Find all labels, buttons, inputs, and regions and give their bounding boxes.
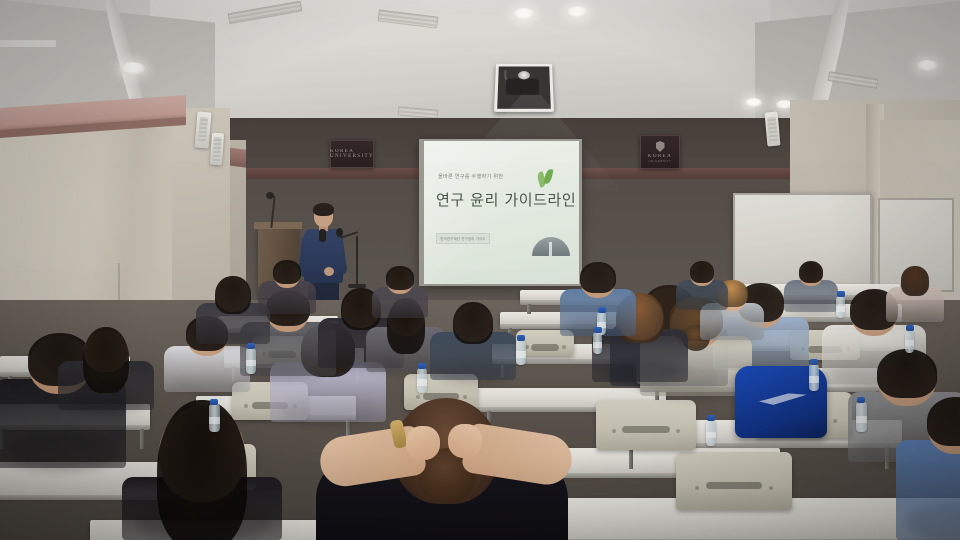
chair-handle-slot [531,344,559,351]
attendee-hair [386,266,413,290]
attendee-far-row-e [886,268,944,322]
attendee-hair [83,327,129,392]
attendee-hair [799,261,824,283]
wall-banner-left-text: KOREA UNIVERSITY [330,149,374,159]
attendee-hair [877,349,937,399]
slide-tag-box: 한국연구재단 연구윤리 가이드 [436,233,490,244]
bottle-cap [598,307,606,313]
attendee-hair [927,397,960,447]
chair-rivet [562,345,566,349]
water-bottle [209,404,220,432]
attendee-hair [580,262,615,293]
bottle-label [905,340,914,346]
attendee-hair [690,261,715,283]
recessed-ceiling-downlight [120,62,145,75]
bottle-cap [810,359,818,365]
nike-swoosh-icon [759,393,807,405]
bottle-label [706,432,716,439]
bottle-label [809,376,819,383]
bottle-label [516,351,526,358]
wall-mounted-loudspeaker-left-2 [210,133,224,166]
auditorium-chair [596,400,696,450]
bottle-cap [837,291,845,297]
attendee-hair [901,266,928,295]
chair-rivet [695,486,699,490]
chair-rivet [676,429,680,433]
water-bottle [856,402,867,432]
shield-crest-icon [656,141,665,152]
bottle-label [593,342,602,348]
presenter-hand [324,267,334,276]
bottle-cap [517,335,525,341]
recessed-ceiling-downlight [745,98,762,107]
attendee-far-row-d [784,262,838,312]
attendee-blue-striped-man [896,400,960,540]
projector-ceiling-plate [0,40,56,47]
wall-banner-left: KOREA UNIVERSITY [330,140,374,168]
projection-screen: 올바른 연구를 수행하기 위한 연구 윤리 가이드라인 한국연구재단 연구윤리 … [424,141,579,284]
attendee-torso [896,440,960,540]
recessed-ceiling-downlight [566,6,588,18]
bottle-cap [247,343,255,349]
wall-banner-right: KOREA UNIVERSITY [640,135,680,169]
bottle-cap [906,325,914,331]
screen-glare [424,141,579,284]
recessed-ceiling-downlight [513,8,535,20]
foreground-woman-hand-right [448,424,482,458]
podium-top [254,222,302,229]
floor-microphone-head-icon [336,228,343,237]
foreground-woman-tying-hair [296,392,592,540]
attendee-hair [157,400,246,540]
podium-microphone-head-icon [266,192,274,199]
attendee-row3-right [430,304,516,380]
projector-lens-icon [518,71,530,79]
chair-handle-slot [622,426,670,433]
bottle-label [856,416,867,424]
bottle-cap [418,363,426,369]
desk-leg [527,304,531,314]
chair-rivet [833,419,837,423]
foreground-woman-hand-left [406,426,440,460]
projector-body [506,78,539,94]
auditorium-chair [676,452,792,510]
slide-subtitle: 올바른 연구를 수행하기 위한 [438,173,503,180]
wall-banner-right-subtext: UNIVERSITY [648,159,671,163]
bottle-cap [707,415,715,421]
attendee-hair [273,260,300,284]
attendee-far-row-c [676,262,728,310]
bottle-cap [210,399,218,405]
leaf-shape-right [544,168,554,184]
lecture-hall-photo: KOREA UNIVERSITY KOREA UNIVERSITY 올바른 연구… [0,0,960,540]
attendee-row2-dark-left [58,330,154,410]
water-bottle [809,364,819,391]
bottle-label [209,417,220,424]
attendee-far-row-b [372,268,428,318]
slide-title: 연구 윤리 가이드라인 [436,189,576,210]
slide-tag-text: 한국연구재단 연구윤리 가이드 [440,236,485,241]
attendee-hair [215,276,250,314]
green-leaf-icon [536,169,558,191]
bottle-cap [857,397,865,403]
presenter-hair [313,203,334,216]
dome-mark [549,242,552,256]
chair-rivet [612,429,616,433]
attendee-far-row-a [258,262,316,314]
bottle-label [836,306,845,312]
bottle-label [417,379,427,386]
desk-leg [629,447,633,469]
water-bottle [706,420,716,446]
water-bottle [417,368,427,393]
attendee-hair [453,302,493,345]
water-bottle [905,330,914,353]
handheld-microphone-icon [319,229,326,242]
water-bottle [246,348,256,374]
water-bottle [516,340,526,365]
water-bottle [836,296,845,318]
bottle-label [246,360,256,367]
bottle-cap [594,327,602,333]
chair-rivet [769,486,773,490]
chair-handle-slot [706,482,762,489]
floor-microphone-stand [356,236,358,286]
recessed-ceiling-downlight [917,60,938,71]
water-bottle [593,332,602,354]
attendee-dark-long-hair [122,406,282,540]
